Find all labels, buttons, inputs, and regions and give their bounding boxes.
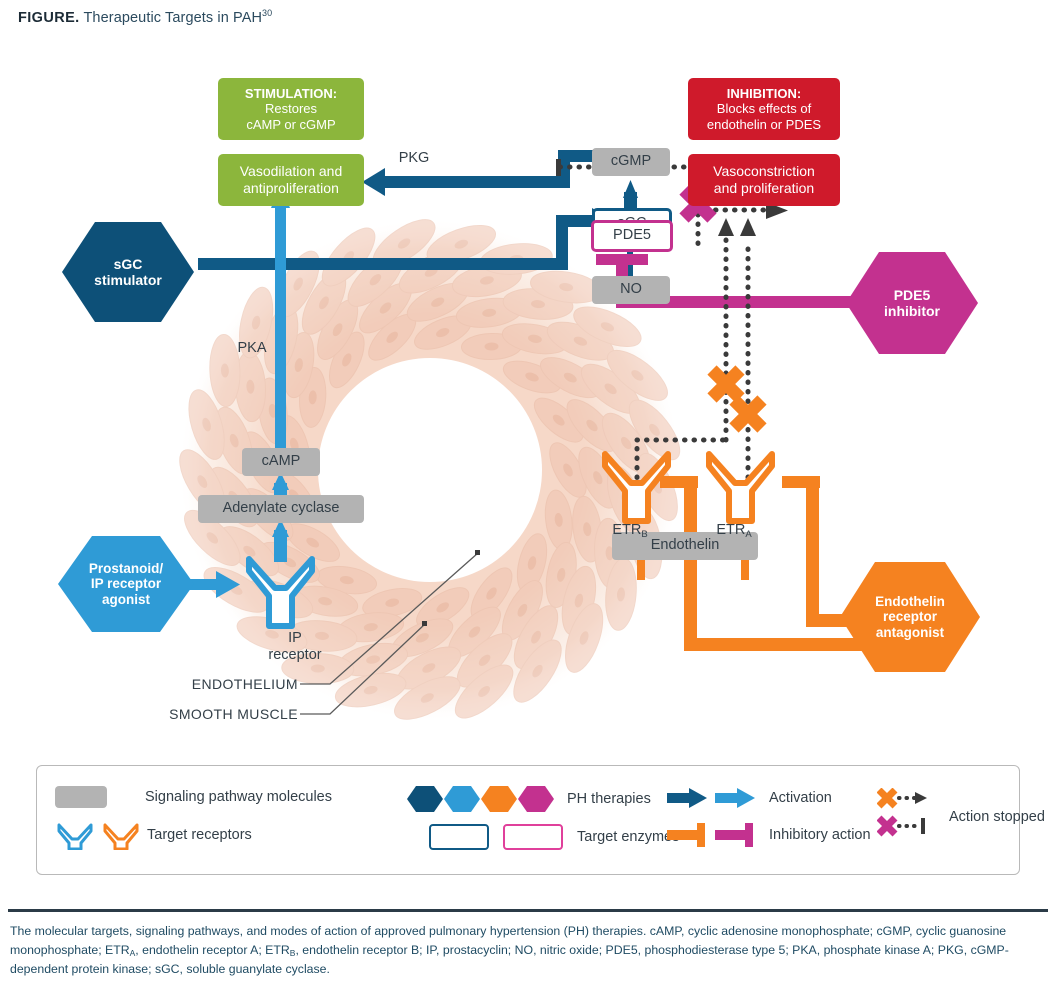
legend-item-signaling-molecules: Signaling pathway molecules — [55, 786, 332, 808]
etrb-label: ETRB — [590, 522, 670, 539]
cgmp-label: cGMP — [611, 153, 651, 170]
legend-label-target-receptors: Target receptors — [147, 827, 252, 843]
molecule-cgmp: cGMP — [592, 148, 670, 176]
legend-item-target-receptors: Target receptors — [53, 820, 252, 850]
stimulation-callout: STIMULATION: Restores cAMP or cGMP — [218, 78, 364, 140]
legend-label-target-enzymes: Target enzymes — [577, 829, 679, 845]
legend-action-stopped-icons — [877, 788, 941, 846]
etra-label: ETRA — [694, 522, 774, 539]
legend-item-ph-therapies: PH therapies — [407, 786, 651, 812]
vasodilation-callout: Vasodilation and antiproliferation — [218, 154, 364, 206]
stimulation-line3: cAMP or cGMP — [245, 117, 337, 132]
orange-receptor-icon — [105, 825, 137, 849]
dotted-blocked-end-icon — [921, 818, 925, 834]
sgc-stimulator-trunk — [198, 258, 568, 270]
enzyme-navy-outline-icon — [429, 824, 489, 850]
vasoconstriction-callout: Vasoconstriction and proliferation — [688, 154, 840, 206]
dotted-arrowhead-icon — [915, 792, 927, 804]
grey-swatch-icon — [55, 786, 107, 808]
inhibition-callout: INHIBITION: Blocks effects of endothelin… — [688, 78, 840, 140]
legend-item-activation: Activation — [667, 786, 832, 810]
figure-label: FIGURE. — [18, 10, 80, 26]
legend-therapy-hexagons — [407, 786, 555, 812]
arrow-pkg-to-vasodilation — [362, 168, 385, 196]
legend-item-inhibitory-action: Inhibitory action — [667, 822, 871, 848]
hex-magenta-icon — [518, 786, 554, 812]
legend-inhibition-bars — [667, 822, 759, 848]
endothelin-label: Endothelin — [651, 537, 720, 554]
dotted-arrowhead-right — [740, 218, 756, 236]
molecule-camp: cAMP — [242, 448, 320, 476]
figure-reference-superscript: 30 — [262, 8, 272, 18]
orange-inhibition-icon — [667, 823, 705, 847]
legend-item-target-enzymes: Target enzymes — [429, 824, 679, 850]
legend-label-ph-therapies: PH therapies — [567, 791, 651, 807]
vasoconstriction-line1: Vasoconstriction — [713, 163, 815, 180]
footnote-sub1: A — [130, 948, 136, 958]
footnote-part2: , endothelin receptor A; ETR — [135, 943, 289, 957]
no-label: NO — [620, 281, 642, 298]
vasodilation-line2: antiproliferation — [240, 180, 342, 197]
footnote: The molecular targets, signaling pathway… — [10, 922, 1046, 979]
navy-arrow-icon — [667, 788, 707, 808]
stimulation-heading: STIMULATION: — [245, 86, 337, 101]
footnote-sub2: B — [290, 948, 296, 958]
pka-label: PKA — [222, 340, 282, 357]
stimulation-line2: Restores — [245, 101, 337, 116]
inhibition-heading: INHIBITION: — [707, 86, 821, 101]
pkg-label: PKG — [384, 150, 444, 167]
etra-inhibition-bar — [782, 476, 820, 488]
hex-blue-icon — [444, 786, 480, 812]
arrow-to-ip-receptor — [216, 571, 240, 598]
legend-panel: Signaling pathway molecules Target recep… — [36, 765, 1020, 875]
smooth-muscle-label: SMOOTH MUSCLE — [146, 706, 298, 722]
era-trunk-lower — [684, 638, 872, 651]
vasodilation-line1: Vasodilation and — [240, 163, 342, 180]
inhibition-line2: Blocks effects of — [707, 101, 821, 116]
hex-navy-icon — [407, 786, 443, 812]
ip-receptor-icon — [249, 559, 312, 626]
etra-receptor-icon — [709, 454, 772, 521]
legend-label-action-stopped: Action stopped — [949, 809, 1045, 825]
legend-label-activation: Activation — [769, 790, 832, 806]
legend-activation-arrows — [667, 786, 759, 810]
dotted-arrowhead-left — [718, 218, 734, 236]
blue-arrow-icon — [715, 788, 755, 808]
legend-label-inhibitory-action: Inhibitory action — [769, 827, 871, 843]
endothelium-label: ENDOTHELIUM — [166, 676, 298, 692]
legend-item-action-stopped: Action stopped — [877, 788, 1045, 846]
blue-receptor-icon — [59, 825, 91, 849]
diagram-canvas: STIMULATION: Restores cAMP or cGMP Vasod… — [0, 40, 1056, 740]
figure-title-text: Therapeutic Targets in PAH — [80, 10, 262, 26]
footer-divider — [8, 909, 1048, 912]
x-orange-icon — [879, 790, 895, 806]
molecule-adenylate-cyclase: Adenylate cyclase — [198, 495, 364, 523]
molecule-no: NO — [592, 276, 670, 304]
enzyme-magenta-outline-icon — [503, 824, 563, 850]
legend-label-signaling-molecules: Signaling pathway molecules — [145, 789, 332, 805]
hex-orange-icon — [481, 786, 517, 812]
inhibition-line3: endothelin or PDES — [707, 117, 821, 132]
x-magenta-icon — [879, 818, 895, 834]
vasoconstriction-line2: and proliferation — [713, 180, 815, 197]
pde5-inhibition-bar — [596, 254, 648, 265]
enzyme-pde5: PDE5 — [591, 220, 673, 252]
etrb-inhibition-bar — [660, 476, 698, 488]
x-blocker-etra-signal — [734, 400, 762, 428]
arrow-sgc-to-cgmp — [623, 180, 638, 198]
adenylate-cyclase-label: Adenylate cyclase — [223, 500, 340, 517]
magenta-inhibition-icon — [715, 823, 753, 847]
page-title: FIGURE. Therapeutic Targets in PAH30 — [18, 8, 272, 26]
camp-label: cAMP — [262, 453, 301, 470]
etrb-receptor-icon — [605, 454, 668, 521]
ip-receptor-label: IP receptor — [240, 630, 350, 663]
